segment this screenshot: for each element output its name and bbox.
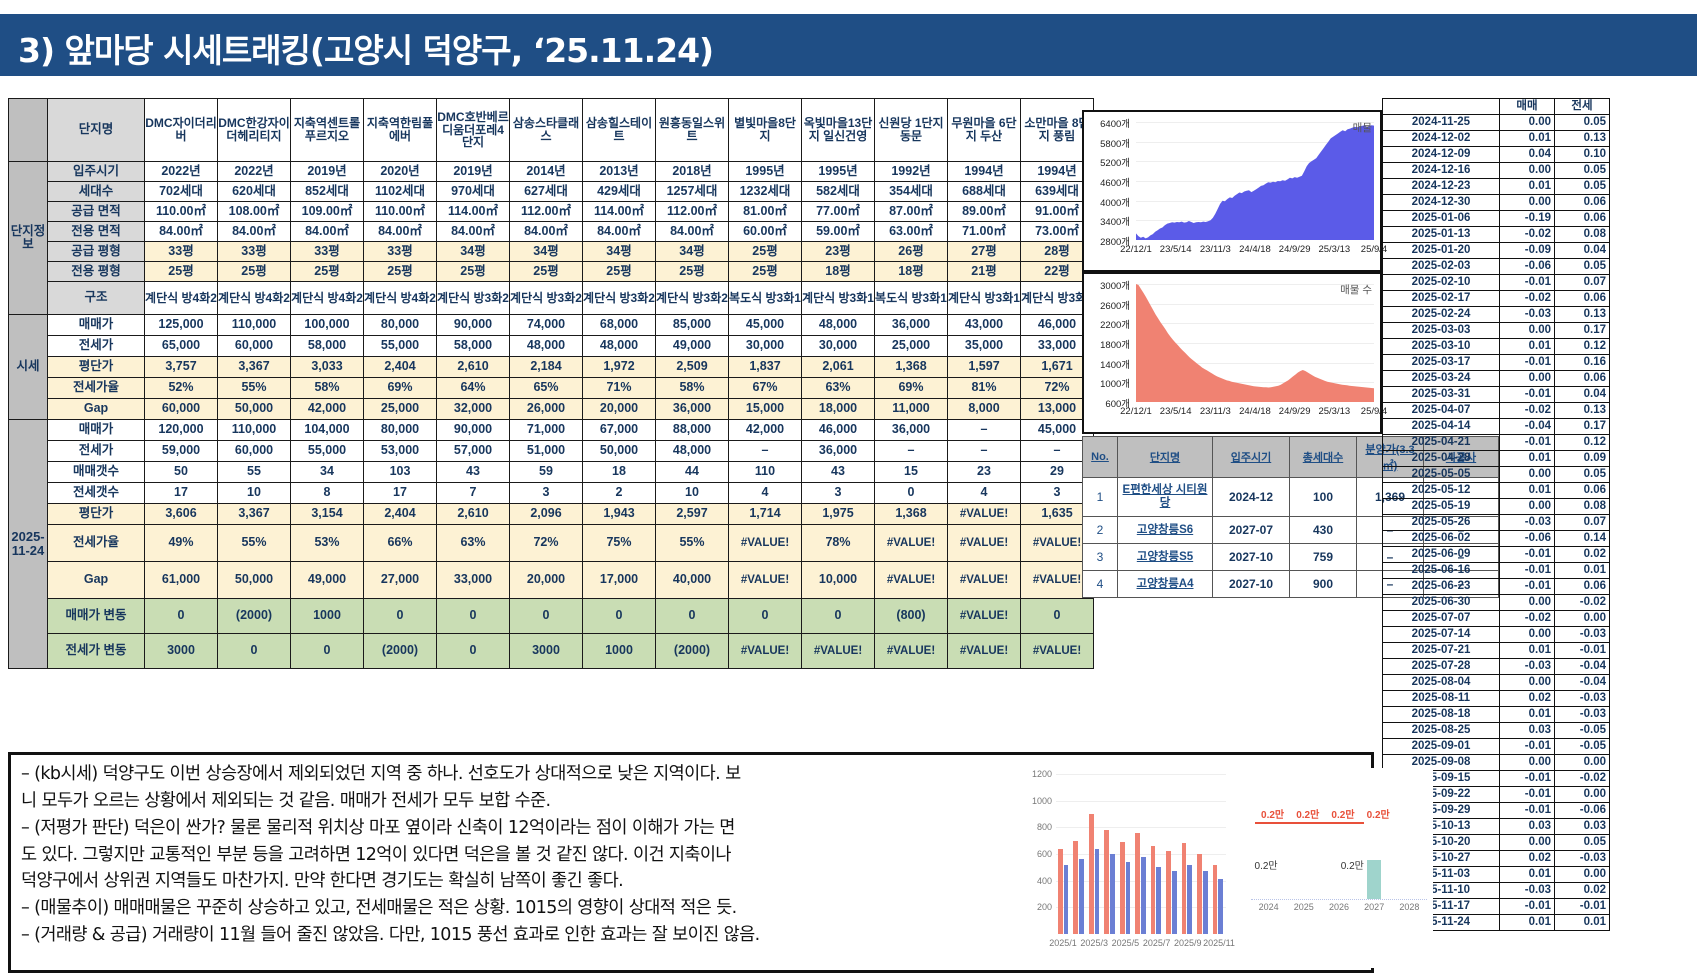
y-tick-label: 1800개 (1084, 337, 1130, 351)
complex-name-4: 지축역한림풀에버 (364, 99, 437, 162)
week-sale-change: 0.01 (1500, 339, 1555, 355)
complex-name-6: 삼송스타클래스 (510, 99, 583, 162)
sub-no: 1 (1083, 478, 1118, 517)
cell-sise-매매가-3: 100,000 (291, 315, 364, 336)
cell-입주시기-4: 2020년 (364, 162, 437, 182)
mini-bar-매매 (1089, 814, 1094, 934)
sub-date: 2027-10 (1213, 544, 1290, 571)
cell-cur-매매가 변동-5: 0 (437, 599, 510, 634)
cell-cur-전세가율-2: 55% (218, 525, 291, 562)
week-jeonse-change: 0.09 (1555, 451, 1610, 467)
cell-cur-Gap-4: 27,000 (364, 562, 437, 599)
table-row: 2025-04-14-0.040.17 (1383, 419, 1610, 435)
mini-bar-매매 (1073, 841, 1078, 934)
mini-x-tick: 2025/11 (1201, 938, 1237, 948)
table-row: 2025-04-07-0.020.13 (1383, 403, 1610, 419)
week-date: 2025-03-10 (1383, 339, 1500, 355)
cell-공급 면적-11: 87.00㎡ (875, 202, 948, 222)
week-jeonse-change: -0.04 (1555, 659, 1610, 675)
side-header-info: 단지정보 (9, 162, 48, 315)
x-tick-label: 23/5/14 (1154, 244, 1198, 255)
forecast-top-label: 0.2만 (1361, 806, 1396, 821)
row-label-sise-매매가: 매매가 (48, 315, 145, 336)
cell-sise-매매가-12: 43,000 (948, 315, 1021, 336)
cell-sise-전세가율-3: 58% (291, 378, 364, 399)
week-jeonse-change: -0.06 (1555, 803, 1610, 819)
week-date: 2024-12-30 (1383, 195, 1500, 211)
cell-전용 면적-3: 84.00㎡ (291, 222, 364, 242)
week-jeonse-change: 0.06 (1555, 579, 1610, 595)
cell-전용 면적-2: 84.00㎡ (218, 222, 291, 242)
week-jeonse-change: 0.00 (1555, 867, 1610, 883)
cell-구조-11: 복도식 방3화1 (875, 282, 948, 315)
cell-cur-전세가율-12: #VALUE! (948, 525, 1021, 562)
table-row: 2025-08-040.00-0.04 (1383, 675, 1610, 691)
dashboard-page: 3) 앞마당 시세트래킹(고양시 덕양구, ‘25.11.24) 단지명DMC자… (0, 0, 1697, 975)
cell-sise-평단가-7: 1,972 (583, 357, 656, 378)
cell-세대수-8: 1257세대 (656, 182, 729, 202)
cell-전용 면적-4: 84.00㎡ (364, 222, 437, 242)
cell-세대수-1: 702세대 (145, 182, 218, 202)
cell-전용 평형-10: 18평 (802, 262, 875, 282)
cell-cur-Gap-3: 49,000 (291, 562, 364, 599)
cell-cur-매매가-9: 42,000 (729, 420, 802, 441)
week-jeonse-change: 0.10 (1555, 147, 1610, 163)
week-date: 2024-11-25 (1383, 115, 1500, 131)
y-tick-label: 4600개 (1084, 175, 1130, 189)
row-label-cur-매매갯수: 매매갯수 (48, 462, 145, 483)
cell-세대수-11: 354세대 (875, 182, 948, 202)
sub-complex-link[interactable]: E편한세상 시티원당 (1118, 478, 1213, 517)
cell-cur-전세가율-3: 53% (291, 525, 364, 562)
cell-cur-전세갯수-12: 4 (948, 483, 1021, 504)
cell-cur-매매가 변동-7: 0 (583, 599, 656, 634)
table-row: 2025-03-17-0.010.16 (1383, 355, 1610, 371)
week-jeonse-change: 0.06 (1555, 211, 1610, 227)
x-tick-label: 24/4/18 (1233, 244, 1277, 255)
week-date: 2025-07-14 (1383, 627, 1500, 643)
cell-sise-전세가-3: 58,000 (291, 336, 364, 357)
cell-sise-전세가-8: 49,000 (656, 336, 729, 357)
side-header-current: 2025-11-24 (9, 420, 48, 669)
sub-units: 900 (1290, 571, 1357, 598)
cell-입주시기-11: 1992년 (875, 162, 948, 182)
cell-전용 면적-10: 59.00㎡ (802, 222, 875, 242)
table-row: 2024-12-020.010.13 (1383, 131, 1610, 147)
week-date: 2025-09-01 (1383, 739, 1500, 755)
cell-cur-매매갯수-2: 55 (218, 462, 291, 483)
cell-sise-평단가-11: 1,368 (875, 357, 948, 378)
cell-cur-매매가 변동-13: 0 (1021, 599, 1094, 634)
cell-세대수-4: 1102세대 (364, 182, 437, 202)
table-row: 2025-05-26-0.030.07 (1383, 515, 1610, 531)
cell-sise-평단가-1: 3,757 (145, 357, 218, 378)
complex-name-8: 원흥동일스위트 (656, 99, 729, 162)
cell-cur-Gap-9: #VALUE! (729, 562, 802, 599)
cell-sise-전세가-6: 48,000 (510, 336, 583, 357)
week-header-2: 전세 (1555, 99, 1610, 115)
table-row: 2025-07-28-0.03-0.04 (1383, 659, 1610, 675)
cell-세대수-9: 1232세대 (729, 182, 802, 202)
mini-y-tick: 200 (1024, 902, 1052, 912)
week-jeonse-change: 0.13 (1555, 403, 1610, 419)
grid-line (1056, 827, 1226, 828)
week-jeonse-change: 0.00 (1555, 787, 1610, 803)
week-jeonse-change: -0.05 (1555, 723, 1610, 739)
sub-complex-link[interactable]: 고양창릉S6 (1118, 517, 1213, 544)
cell-sise-Gap-2: 50,000 (218, 399, 291, 420)
cell-sise-매매가-1: 125,000 (145, 315, 218, 336)
sub-units: 430 (1290, 517, 1357, 544)
cell-sise-전세가-12: 35,000 (948, 336, 1021, 357)
cell-cur-매매갯수-7: 18 (583, 462, 656, 483)
row-label-입주시기: 입주시기 (48, 162, 145, 182)
week-sale-change: -0.01 (1500, 563, 1555, 579)
complex-name-2: DMC한강자이더헤리티지 (218, 99, 291, 162)
week-sale-change: -0.19 (1500, 211, 1555, 227)
week-jeonse-change: 0.07 (1555, 275, 1610, 291)
y-tick-label: 1400개 (1084, 357, 1130, 371)
week-date: 2025-07-07 (1383, 611, 1500, 627)
x-tick-label: 23/11/3 (1193, 244, 1237, 255)
cell-cur-전세가-2: 60,000 (218, 441, 291, 462)
cell-cur-Gap-12: #VALUE! (948, 562, 1021, 599)
row-label-sise-전세가율: 전세가율 (48, 378, 145, 399)
table-row: 2025-05-120.010.06 (1383, 483, 1610, 499)
cell-구조-8: 계단식 방3화2 (656, 282, 729, 315)
cell-전용 평형-9: 25평 (729, 262, 802, 282)
row-label-cur-전세가율: 전세가율 (48, 525, 145, 562)
week-date: 2025-06-23 (1383, 579, 1500, 595)
week-jeonse-change: -0.03 (1555, 707, 1610, 723)
cell-cur-전세가-7: 50,000 (583, 441, 656, 462)
cell-cur-전세갯수-11: 0 (875, 483, 948, 504)
row-label-cur-매매가 변동: 매매가 변동 (48, 599, 145, 634)
table-row: 2025-03-030.000.17 (1383, 323, 1610, 339)
cell-cur-전세가 변동-11: #VALUE! (875, 634, 948, 669)
week-date: 2024-12-02 (1383, 131, 1500, 147)
week-sale-change: 0.00 (1500, 323, 1555, 339)
cell-공급 평형-10: 23평 (802, 242, 875, 262)
cell-sise-Gap-12: 8,000 (948, 399, 1021, 420)
cell-공급 평형-6: 34평 (510, 242, 583, 262)
cell-전용 면적-8: 84.00㎡ (656, 222, 729, 242)
week-jeonse-change: 0.06 (1555, 371, 1610, 387)
week-sale-change: -0.03 (1500, 307, 1555, 323)
side-header-blank (9, 99, 48, 162)
y-tick-label: 5200개 (1084, 155, 1130, 169)
cell-구조-6: 계단식 방3화2 (510, 282, 583, 315)
x-tick-label: 25/3/13 (1312, 244, 1356, 255)
cell-전용 평형-7: 25평 (583, 262, 656, 282)
week-sale-change: 0.01 (1500, 867, 1555, 883)
cell-cur-전세가 변동-4: (2000) (364, 634, 437, 669)
cell-cur-매매갯수-11: 15 (875, 462, 948, 483)
cell-전용 면적-7: 84.00㎡ (583, 222, 656, 242)
week-jeonse-change: 0.06 (1555, 291, 1610, 307)
week-date: 2025-04-07 (1383, 403, 1500, 419)
mini-y-tick: 600 (1024, 849, 1052, 859)
week-sale-change: -0.04 (1500, 419, 1555, 435)
cell-입주시기-12: 1994년 (948, 162, 1021, 182)
week-sale-change: -0.01 (1500, 547, 1555, 563)
cell-cur-매매가-6: 71,000 (510, 420, 583, 441)
cell-세대수-5: 970세대 (437, 182, 510, 202)
mini-bar-전세 (1141, 857, 1146, 934)
week-jeonse-change: 0.06 (1555, 195, 1610, 211)
week-date: 2025-03-31 (1383, 387, 1500, 403)
x-tick-label: 24/9/29 (1273, 244, 1317, 255)
cell-전용 평형-8: 25평 (656, 262, 729, 282)
listings-trend-chart-blue: 2800개3400개4000개4600개5200개5800개6400개 22/1… (1082, 110, 1382, 272)
cell-입주시기-1: 2022년 (145, 162, 218, 182)
cell-입주시기-3: 2019년 (291, 162, 364, 182)
cell-cur-평단가-3: 3,154 (291, 504, 364, 525)
week-sale-change: 0.00 (1500, 627, 1555, 643)
week-jeonse-change: -0.01 (1555, 643, 1610, 659)
cell-공급 평형-11: 26평 (875, 242, 948, 262)
week-sale-change: -0.01 (1500, 787, 1555, 803)
week-date: 2025-03-17 (1383, 355, 1500, 371)
cell-cur-평단가-10: 1,975 (802, 504, 875, 525)
chart1-plot-area (1136, 122, 1374, 240)
week-jeonse-change: 0.01 (1555, 563, 1610, 579)
table-row: 2025-08-180.01-0.03 (1383, 707, 1610, 723)
cell-공급 면적-8: 112.00㎡ (656, 202, 729, 222)
cell-cur-매매가 변동-2: (2000) (218, 599, 291, 634)
complex-name-9: 별빛마을8단지 (729, 99, 802, 162)
cell-sise-평단가-10: 2,061 (802, 357, 875, 378)
row-label-전용 평형: 전용 평형 (48, 262, 145, 282)
monthly-volume-chart: 20040060080010001200 2025/12025/32025/52… (1022, 768, 1232, 968)
mini-y-tick: 800 (1024, 822, 1052, 832)
cell-입주시기-8: 2018년 (656, 162, 729, 182)
table-row: 2025-04-280.010.09 (1383, 451, 1610, 467)
cell-cur-매매가-7: 67,000 (583, 420, 656, 441)
table-row: 2025-09-01-0.01-0.05 (1383, 739, 1610, 755)
complex-name-7: 삼송힐스테이트 (583, 99, 656, 162)
forecast-bar-2027 (1367, 860, 1381, 898)
cell-sise-전세가율-2: 55% (218, 378, 291, 399)
week-date: 2025-08-04 (1383, 675, 1500, 691)
sub-table-header-1: 단지명 (1118, 437, 1213, 478)
complex-name-header: 단지명 (48, 99, 145, 162)
cell-cur-매매가 변동-1: 0 (145, 599, 218, 634)
week-sale-change: 0.00 (1500, 499, 1555, 515)
week-date: 2025-06-02 (1383, 531, 1500, 547)
cell-cur-전세가 변동-1: 3000 (145, 634, 218, 669)
cell-cur-매매가-8: 88,000 (656, 420, 729, 441)
week-date: 2025-06-16 (1383, 563, 1500, 579)
week-sale-change: -0.02 (1500, 611, 1555, 627)
cell-공급 면적-4: 110.00㎡ (364, 202, 437, 222)
mini-chart1-plot (1056, 774, 1226, 934)
cell-공급 면적-2: 108.00㎡ (218, 202, 291, 222)
cell-cur-평단가-2: 3,367 (218, 504, 291, 525)
cell-공급 평형-1: 33평 (145, 242, 218, 262)
week-sale-change: 0.01 (1500, 707, 1555, 723)
forecast-x-tick: 2027 (1357, 902, 1392, 912)
forecast-inner-label: 0.2만 (1255, 857, 1278, 872)
grid-line (1056, 801, 1226, 802)
week-sale-change: -0.06 (1500, 531, 1555, 547)
complex-name-12: 무원마을 6단지 두산 (948, 99, 1021, 162)
cell-sise-매매가-6: 74,000 (510, 315, 583, 336)
y-tick-label: 3000개 (1084, 278, 1130, 292)
cell-cur-매매갯수-1: 50 (145, 462, 218, 483)
cell-cur-전세갯수-5: 7 (437, 483, 510, 504)
cell-sise-매매가-5: 90,000 (437, 315, 510, 336)
cell-전용 면적-5: 84.00㎡ (437, 222, 510, 242)
cell-cur-전세가-3: 55,000 (291, 441, 364, 462)
mini-bar-매매 (1197, 854, 1202, 934)
cell-cur-Gap-5: 33,000 (437, 562, 510, 599)
week-sale-change: -0.01 (1500, 899, 1555, 915)
cell-공급 면적-7: 114.00㎡ (583, 202, 656, 222)
row-label-sise-평단가: 평단가 (48, 357, 145, 378)
mini-bar-전세 (1172, 871, 1177, 934)
row-label-전용 면적: 전용 면적 (48, 222, 145, 242)
week-jeonse-change: 0.05 (1555, 115, 1610, 131)
week-jeonse-change: -0.03 (1555, 851, 1610, 867)
mini-bar-매매 (1166, 851, 1171, 934)
cell-공급 면적-5: 114.00㎡ (437, 202, 510, 222)
forecast-x-tick: 2024 (1251, 902, 1286, 912)
cell-cur-평단가-7: 1,943 (583, 504, 656, 525)
forecast-baseline (1251, 899, 1427, 900)
row-label-공급 평형: 공급 평형 (48, 242, 145, 262)
week-jeonse-change: -0.01 (1555, 899, 1610, 915)
week-sale-change: -0.01 (1500, 275, 1555, 291)
cell-cur-매매갯수-9: 110 (729, 462, 802, 483)
table-row: 2024-12-160.000.05 (1383, 163, 1610, 179)
week-sale-change: 0.00 (1500, 467, 1555, 483)
cell-cur-Gap-2: 50,000 (218, 562, 291, 599)
mini-bar-전세 (1218, 879, 1223, 934)
cell-sise-평단가-3: 3,033 (291, 357, 364, 378)
cell-cur-매매가-3: 104,000 (291, 420, 364, 441)
table-row: 2025-06-300.00-0.02 (1383, 595, 1610, 611)
cell-sise-전세가-7: 48,000 (583, 336, 656, 357)
week-date: 2025-05-26 (1383, 515, 1500, 531)
cell-cur-매매가 변동-10: 0 (802, 599, 875, 634)
cell-cur-매매갯수-12: 23 (948, 462, 1021, 483)
cell-입주시기-5: 2019년 (437, 162, 510, 182)
cell-cur-매매가 변동-6: 0 (510, 599, 583, 634)
cell-cur-전세가율-7: 75% (583, 525, 656, 562)
week-date: 2025-03-24 (1383, 371, 1500, 387)
cell-공급 면적-3: 109.00㎡ (291, 202, 364, 222)
cell-sise-전세가-1: 65,000 (145, 336, 218, 357)
cell-cur-평단가-5: 2,610 (437, 504, 510, 525)
forecast-top-label: 0.2만 (1325, 806, 1360, 821)
week-sale-change: -0.09 (1500, 243, 1555, 259)
y-tick-label: 2200개 (1084, 317, 1130, 331)
cell-sise-전세가-11: 25,000 (875, 336, 948, 357)
forecast-x-tick: 2028 (1392, 902, 1427, 912)
x-tick-label: 22/12/1 (1114, 244, 1158, 255)
week-sale-change: -0.06 (1500, 259, 1555, 275)
cell-구조-4: 계단식 방4화2 (364, 282, 437, 315)
mini-y-tick: 1000 (1024, 796, 1052, 806)
cell-전용 평형-6: 25평 (510, 262, 583, 282)
cell-cur-전세가 변동-3: 0 (291, 634, 364, 669)
table-row: 2025-07-07-0.020.00 (1383, 611, 1610, 627)
week-jeonse-change: 0.05 (1555, 835, 1610, 851)
cell-sise-Gap-4: 25,000 (364, 399, 437, 420)
cell-전용 평형-5: 25평 (437, 262, 510, 282)
mini-bar-전세 (1203, 871, 1208, 934)
row-label-cur-Gap: Gap (48, 562, 145, 599)
cell-sise-평단가-8: 2,509 (656, 357, 729, 378)
week-sale-change: -0.01 (1500, 435, 1555, 451)
mini-y-tick: 1200 (1024, 769, 1052, 779)
mini-bar-매매 (1120, 842, 1125, 934)
cell-cur-Gap-10: 10,000 (802, 562, 875, 599)
cell-cur-전세가-11: – (875, 441, 948, 462)
complex-name-11: 신원당 1단지 동문 (875, 99, 948, 162)
week-jeonse-change: 0.08 (1555, 227, 1610, 243)
table-row: 2025-06-23-0.010.06 (1383, 579, 1610, 595)
sub-date: 2024-12 (1213, 478, 1290, 517)
cell-cur-전세가율-5: 63% (437, 525, 510, 562)
mini-bar-전세 (1079, 859, 1084, 934)
cell-sise-Gap-7: 20,000 (583, 399, 656, 420)
cell-sise-매매가-4: 80,000 (364, 315, 437, 336)
week-date: 2025-04-21 (1383, 435, 1500, 451)
week-date: 2025-02-10 (1383, 275, 1500, 291)
y-tick-label: 2600개 (1084, 298, 1130, 312)
row-label-구조: 구조 (48, 282, 145, 315)
cell-전용 평형-11: 18평 (875, 262, 948, 282)
cell-cur-전세갯수-1: 17 (145, 483, 218, 504)
cell-cur-전세가-6: 51,000 (510, 441, 583, 462)
sub-complex-link[interactable]: 고양창릉A4 (1118, 571, 1213, 598)
cell-sise-Gap-10: 18,000 (802, 399, 875, 420)
cell-cur-매매가 변동-4: 0 (364, 599, 437, 634)
mini-y-tick: 400 (1024, 876, 1052, 886)
week-date: 2025-02-03 (1383, 259, 1500, 275)
table-row: 2025-05-190.000.08 (1383, 499, 1610, 515)
week-date: 2025-04-28 (1383, 451, 1500, 467)
cell-세대수-2: 620세대 (218, 182, 291, 202)
y-tick-label: 6400개 (1084, 116, 1130, 130)
table-row: 2024-12-300.000.06 (1383, 195, 1610, 211)
week-date: 2025-05-05 (1383, 467, 1500, 483)
week-jeonse-change: 0.05 (1555, 163, 1610, 179)
cell-cur-전세가-8: 48,000 (656, 441, 729, 462)
week-jeonse-change: 0.00 (1555, 755, 1610, 771)
cell-sise-전세가율-12: 81% (948, 378, 1021, 399)
cell-cur-평단가-8: 2,597 (656, 504, 729, 525)
week-date: 2025-02-24 (1383, 307, 1500, 323)
sub-complex-link[interactable]: 고양창릉S5 (1118, 544, 1213, 571)
grid-line (1056, 774, 1226, 775)
page-title: 3) 앞마당 시세트래킹(고양시 덕양구, ‘25.11.24) (18, 24, 713, 72)
week-sale-change: 0.00 (1500, 755, 1555, 771)
chart1-legend: 매물 (1353, 120, 1372, 135)
cell-cur-평단가-11: 1,368 (875, 504, 948, 525)
week-jeonse-change: 0.08 (1555, 499, 1610, 515)
cell-공급 평형-2: 33평 (218, 242, 291, 262)
cell-sise-평단가-2: 3,367 (218, 357, 291, 378)
week-sale-change: 0.00 (1500, 595, 1555, 611)
cell-sise-매매가-11: 36,000 (875, 315, 948, 336)
week-sale-change: -0.02 (1500, 403, 1555, 419)
table-row: 2025-01-06-0.190.06 (1383, 211, 1610, 227)
week-date: 2025-01-06 (1383, 211, 1500, 227)
mini-bar-전세 (1110, 854, 1115, 934)
